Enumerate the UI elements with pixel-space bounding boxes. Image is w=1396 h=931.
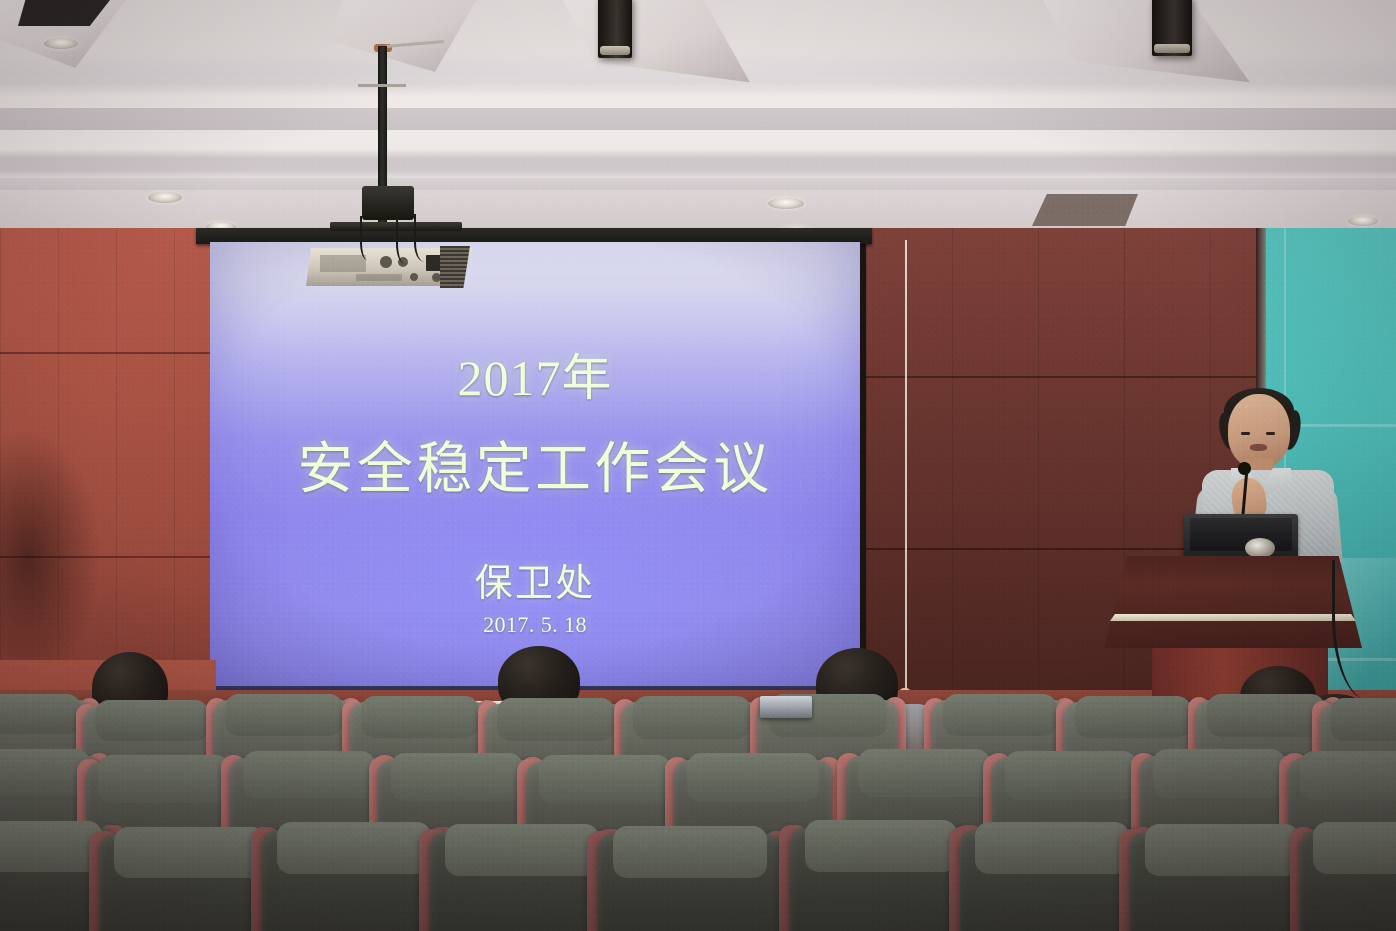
podium-mouse[interactable] [1245,538,1275,558]
presenter-head [1228,394,1290,468]
seat-headrest [277,822,432,874]
seat-headrest [687,753,820,802]
ceiling-air-vent [1032,194,1138,226]
seat-headrest [539,755,672,804]
slide-year-text: 2017年 [210,338,860,410]
seat-headrest [1145,824,1300,876]
seat-headrest [243,751,376,799]
conference-hall-photo: 2017年 安全稳定工作会议 保卫处 2017. 5. 18 [0,0,1396,931]
seat-headrest [95,700,209,741]
podium-laptop[interactable] [1184,514,1298,558]
seat-headrest [0,821,102,872]
seat-headrest [1153,749,1286,798]
ceiling-soffit-wedge-left [0,0,130,68]
seat-headrest [1313,822,1396,874]
slide-title-text: 安全稳定工作会议 [210,424,860,505]
ceiling-soffit-wedge-right [1040,0,1250,90]
screen-pull-cord [905,240,907,695]
projector-cable-b [414,214,440,262]
projector-mount-crossbar [358,84,406,87]
seat-headrest [445,824,600,876]
audience-laptop[interactable] [760,696,812,718]
recessed-light-1 [44,38,78,49]
seat-headrest [1005,751,1138,800]
auditorium-seat[interactable] [1130,832,1314,931]
seat-headrest [805,820,958,872]
seat-headrest [1207,694,1325,737]
recessed-light-4 [768,198,804,209]
auditorium-seat[interactable] [960,830,1144,931]
auditorium-seat[interactable] [790,828,972,931]
slide-department-text: 保卫处 [210,552,860,607]
seat-headrest [975,822,1130,874]
seat-headrest [361,696,479,738]
projector-cable-c [360,216,378,260]
projection-screen: 2017年 安全稳定工作会议 保卫处 2017. 5. 18 [210,242,860,690]
presenter-mouth [1250,444,1267,451]
auditorium-seat[interactable] [1300,830,1396,931]
seat-headrest [1075,696,1191,738]
recessed-light-2 [148,192,182,203]
recessed-light-6 [1348,216,1378,226]
podium-accent-stripe [1110,614,1356,621]
seat-headrest [391,753,524,801]
podium-lectern [1104,556,1362,648]
seat-headrest [943,694,1057,736]
seat-headrest [858,749,989,797]
seat-headrest [633,696,751,739]
seat-headrest [1330,698,1396,741]
seat-headrest [98,755,229,803]
ceiling [0,0,1396,240]
seat-headrest [1300,751,1396,800]
seat-headrest [0,694,81,734]
seat-headrest [114,827,265,878]
auditorium-seat[interactable] [598,834,782,931]
seat-headrest [225,694,343,736]
ceiling-band-upper [0,108,1396,130]
left-wall-panel [0,228,214,698]
seat-headrest [497,698,615,741]
slide-date-text: 2017. 5. 18 [210,612,860,638]
pendant-light-right [1152,0,1192,56]
seat-headrest [613,826,768,878]
ceiling-soffit-wedge-mid [560,0,750,86]
ceiling-soffit-wedge-mid-left [330,0,480,72]
pendant-light-left [598,0,632,58]
